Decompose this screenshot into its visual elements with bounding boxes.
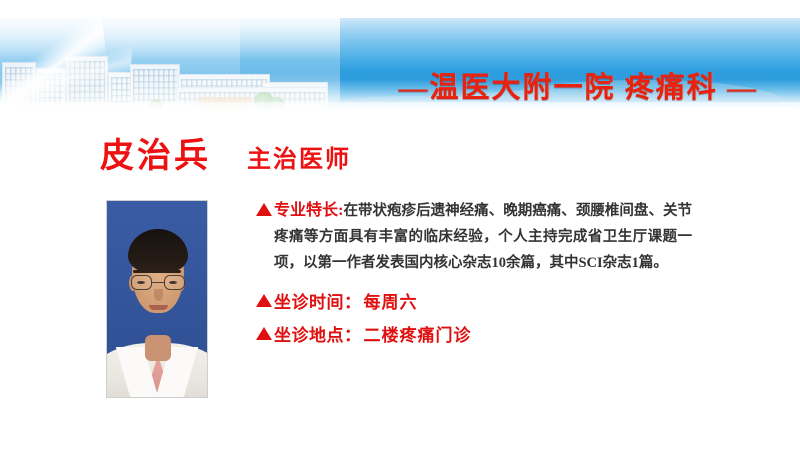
specialty-bullet-row: 专业特长:在带状疱疹后遗神经痛、晚期癌痛、颈腰椎间盘、关节疼痛等方面具有丰富的临… — [256, 198, 692, 276]
doctor-info-content: 专业特长:在带状疱疹后遗神经痛、晚期癌痛、颈腰椎间盘、关节疼痛等方面具有丰富的临… — [256, 198, 692, 354]
schedule-time-row: 坐诊时间： 每周六 — [256, 288, 692, 313]
doctor-title: 主治医师 — [247, 139, 351, 174]
slide-root: —温医大附一院 疼痛科 — 皮治兵 主治医师 专业特长:在带状 — [0, 0, 800, 450]
portrait-nose — [154, 289, 163, 301]
banner-title: —温医大附一院 疼痛科 — — [398, 64, 758, 106]
glasses-lens-right — [164, 275, 185, 290]
clinic-time-label: 坐诊时间： — [274, 288, 362, 313]
clinic-time-value: 每周六 — [364, 288, 418, 313]
doctor-name-row: 皮治兵 主治医师 — [100, 128, 351, 177]
glasses-lens-left — [131, 275, 152, 290]
specialty-paragraph: 专业特长:在带状疱疹后遗神经痛、晚期癌痛、颈腰椎间盘、关节疼痛等方面具有丰富的临… — [274, 198, 692, 276]
header-banner: —温医大附一院 疼痛科 — — [0, 18, 800, 112]
portrait-neck — [145, 335, 171, 361]
glasses-bridge — [152, 282, 164, 283]
portrait-eyebrow-right — [164, 270, 181, 273]
doctor-portrait-photo — [106, 200, 208, 398]
triangle-bullet-icon — [256, 294, 272, 307]
schedule-block: 坐诊时间： 每周六 坐诊地点： 二楼疼痛门诊 — [256, 288, 692, 346]
specialty-label: 专业特长: — [274, 202, 343, 219]
clinic-location-value: 二楼疼痛门诊 — [364, 321, 472, 346]
portrait-mouth — [149, 305, 168, 310]
schedule-location-row: 坐诊地点： 二楼疼痛门诊 — [256, 321, 692, 346]
portrait-eyebrow-left — [133, 270, 150, 273]
triangle-bullet-icon — [256, 327, 272, 340]
clinic-location-label: 坐诊地点： — [274, 321, 362, 346]
triangle-bullet-icon — [256, 203, 272, 216]
doctor-name: 皮治兵 — [100, 128, 211, 177]
